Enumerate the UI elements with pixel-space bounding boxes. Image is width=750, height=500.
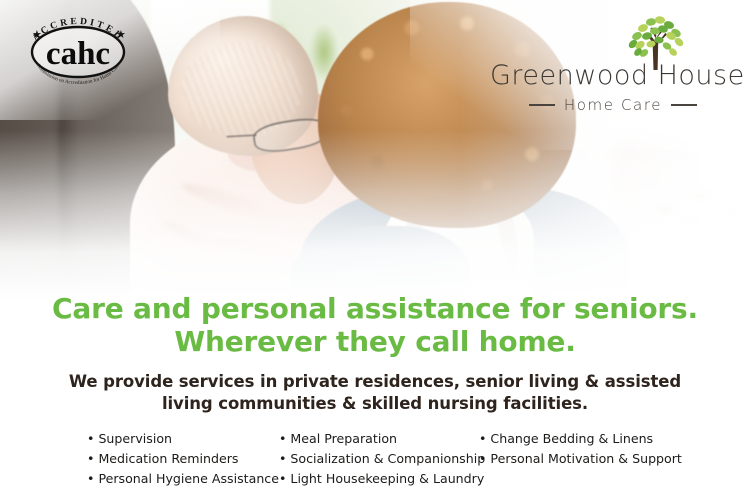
services-column-2: •Meal Preparation •Socialization & Compa… bbox=[279, 429, 479, 490]
list-item-label: Light Housekeeping & Laundry bbox=[290, 471, 484, 486]
list-item: •Change Bedding & Linens bbox=[479, 429, 679, 449]
headline-line-1: Care and personal assistance for seniors… bbox=[52, 292, 698, 325]
list-item-label: Medication Reminders bbox=[98, 451, 238, 466]
cahc-star-right: ★ bbox=[116, 29, 126, 41]
services-column-3: •Change Bedding & Linens •Personal Motiv… bbox=[479, 429, 679, 470]
services-column-1: •Supervision •Medication Reminders •Pers… bbox=[75, 429, 279, 490]
cahc-star-left: ★ bbox=[32, 29, 42, 41]
bullet-icon: • bbox=[87, 431, 94, 446]
bullet-icon: • bbox=[279, 451, 286, 466]
cahc-acronym: cahc bbox=[46, 36, 110, 72]
list-item-label: Socialization & Companionship bbox=[290, 451, 485, 466]
home-care-banner: ACCREDITED ★ ★ cahc Commission on Accred… bbox=[0, 0, 750, 500]
bullet-icon: • bbox=[87, 471, 94, 486]
list-item-label: Meal Preparation bbox=[290, 431, 397, 446]
bullet-icon: • bbox=[479, 451, 486, 466]
page-title: Care and personal assistance for seniors… bbox=[0, 292, 750, 359]
brand-tagline-group: Home Care bbox=[490, 96, 736, 114]
bullet-icon: • bbox=[279, 471, 286, 486]
tagline-dash-left bbox=[529, 104, 555, 106]
list-item: •Supervision bbox=[87, 429, 279, 449]
brand-tagline: Home Care bbox=[564, 96, 662, 114]
list-item: •Personal Hygiene Assistance bbox=[87, 469, 279, 489]
services-list: •Supervision •Medication Reminders •Pers… bbox=[75, 429, 675, 490]
list-item-label: Personal Hygiene Assistance bbox=[98, 471, 279, 486]
list-item: •Meal Preparation bbox=[279, 429, 479, 449]
list-item: •Personal Motivation & Support bbox=[479, 449, 679, 469]
bullet-icon: • bbox=[279, 431, 286, 446]
subheadline: We provide services in private residence… bbox=[55, 371, 695, 415]
list-item-label: Change Bedding & Linens bbox=[490, 431, 653, 446]
bullet-icon: • bbox=[87, 451, 94, 466]
headline-line-2: Wherever they call home. bbox=[0, 325, 750, 358]
list-item-label: Personal Motivation & Support bbox=[490, 451, 681, 466]
bullet-icon: • bbox=[479, 431, 486, 446]
brand-wordmark: Greenwood House bbox=[490, 60, 736, 91]
list-item: •Socialization & Companionship bbox=[279, 449, 479, 469]
tagline-dash-right bbox=[671, 104, 697, 106]
message-block: Care and personal assistance for seniors… bbox=[0, 292, 750, 490]
cahc-accreditation-seal-icon: ACCREDITED ★ ★ cahc Commission on Accred… bbox=[18, 8, 138, 90]
greenwood-house-logo: Greenwood House Home Care bbox=[490, 12, 736, 112]
list-item: •Light Housekeeping & Laundry bbox=[279, 469, 479, 489]
list-item-label: Supervision bbox=[98, 431, 172, 446]
list-item: •Medication Reminders bbox=[87, 449, 279, 469]
